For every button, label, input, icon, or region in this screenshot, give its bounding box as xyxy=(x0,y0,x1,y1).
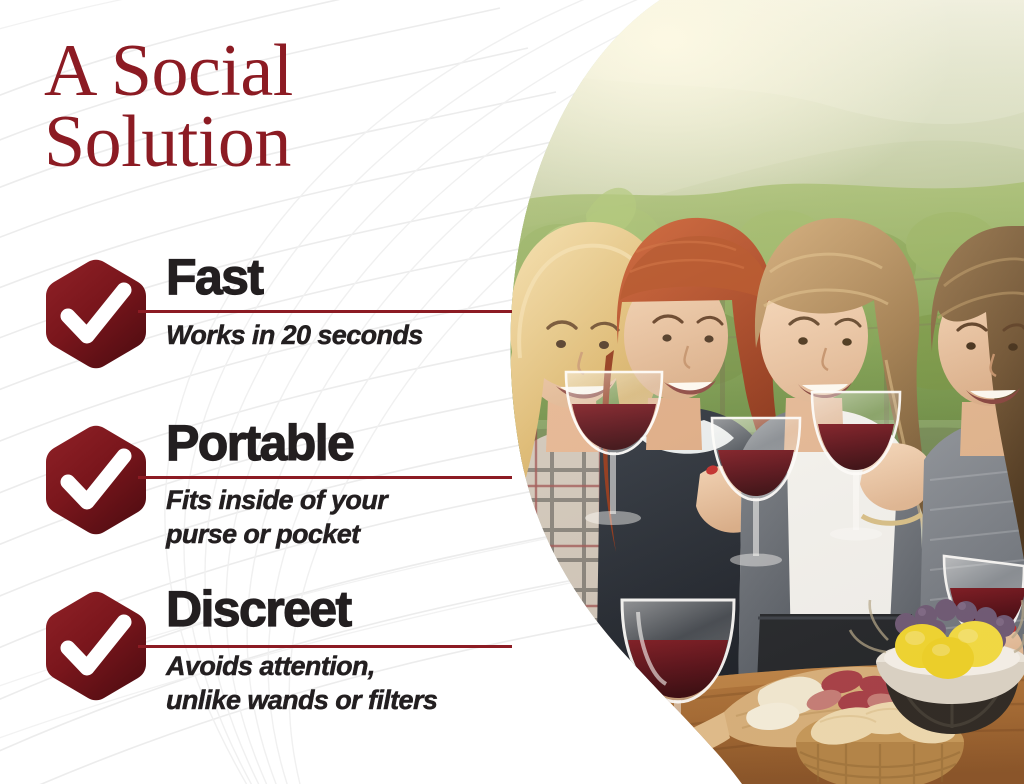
feature-heading: Portable xyxy=(166,418,520,468)
content-column: A Social Solution Fast Works in 20 secon… xyxy=(0,0,520,784)
page-title: A Social Solution xyxy=(44,36,514,178)
feature-subtitle: Fits inside of your purse or pocket xyxy=(166,483,520,551)
feature-text-block: Fast Works in 20 seconds xyxy=(166,252,520,352)
feature-heading: Discreet xyxy=(166,584,520,634)
check-hexagon-icon xyxy=(44,258,148,370)
feature-heading: Fast xyxy=(166,252,520,302)
feature-subtitle: Works in 20 seconds xyxy=(166,318,520,352)
feature-text-block: Discreet Avoids attention, unlike wands … xyxy=(166,584,520,717)
check-hexagon-icon xyxy=(44,590,148,702)
poster-canvas: A Social Solution Fast Works in 20 secon… xyxy=(0,0,1024,784)
feature-divider-rule xyxy=(138,645,512,648)
feature-subtitle: Avoids attention, unlike wands or filter… xyxy=(166,649,520,717)
check-hexagon-icon xyxy=(44,424,148,536)
feature-divider-rule xyxy=(138,476,512,479)
feature-text-block: Portable Fits inside of your purse or po… xyxy=(166,418,520,551)
feature-divider-rule xyxy=(138,310,512,313)
